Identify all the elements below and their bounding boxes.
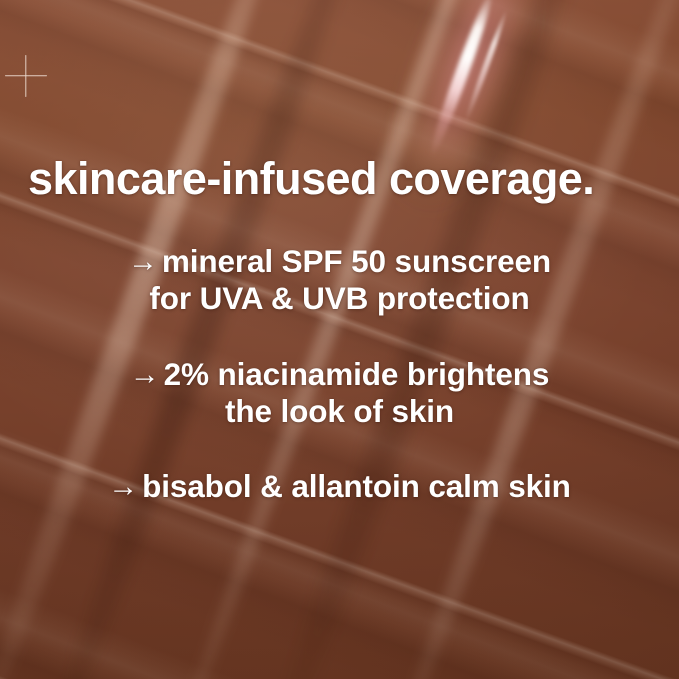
- product-claims-poster: skincare-infused coverage. →mineral SPF …: [0, 0, 679, 679]
- arrow-right-icon: →: [130, 357, 160, 392]
- claim-line: for UVA & UVB protection: [0, 280, 679, 317]
- claim-line: →2% niacinamide brightens: [0, 356, 679, 393]
- claim-line: →bisabol & allantoin calm skin: [0, 468, 679, 505]
- list-item: →2% niacinamide brightens the look of sk…: [0, 356, 679, 431]
- arrow-right-icon: →: [108, 469, 138, 504]
- arrow-right-icon: →: [128, 244, 158, 279]
- list-item: →bisabol & allantoin calm skin: [0, 468, 679, 505]
- claim-line: →mineral SPF 50 sunscreen: [0, 243, 679, 280]
- list-item: →mineral SPF 50 sunscreen for UVA & UVB …: [0, 243, 679, 318]
- page-title: skincare-infused coverage.: [28, 156, 594, 201]
- poster-content: skincare-infused coverage. →mineral SPF …: [0, 0, 679, 679]
- claim-text: bisabol & allantoin calm skin: [142, 468, 571, 504]
- claim-text: 2% niacinamide brightens: [164, 356, 550, 392]
- claim-text: mineral SPF 50 sunscreen: [162, 243, 551, 279]
- claims-list: →mineral SPF 50 sunscreen for UVA & UVB …: [0, 243, 679, 505]
- claim-line: the look of skin: [0, 393, 679, 430]
